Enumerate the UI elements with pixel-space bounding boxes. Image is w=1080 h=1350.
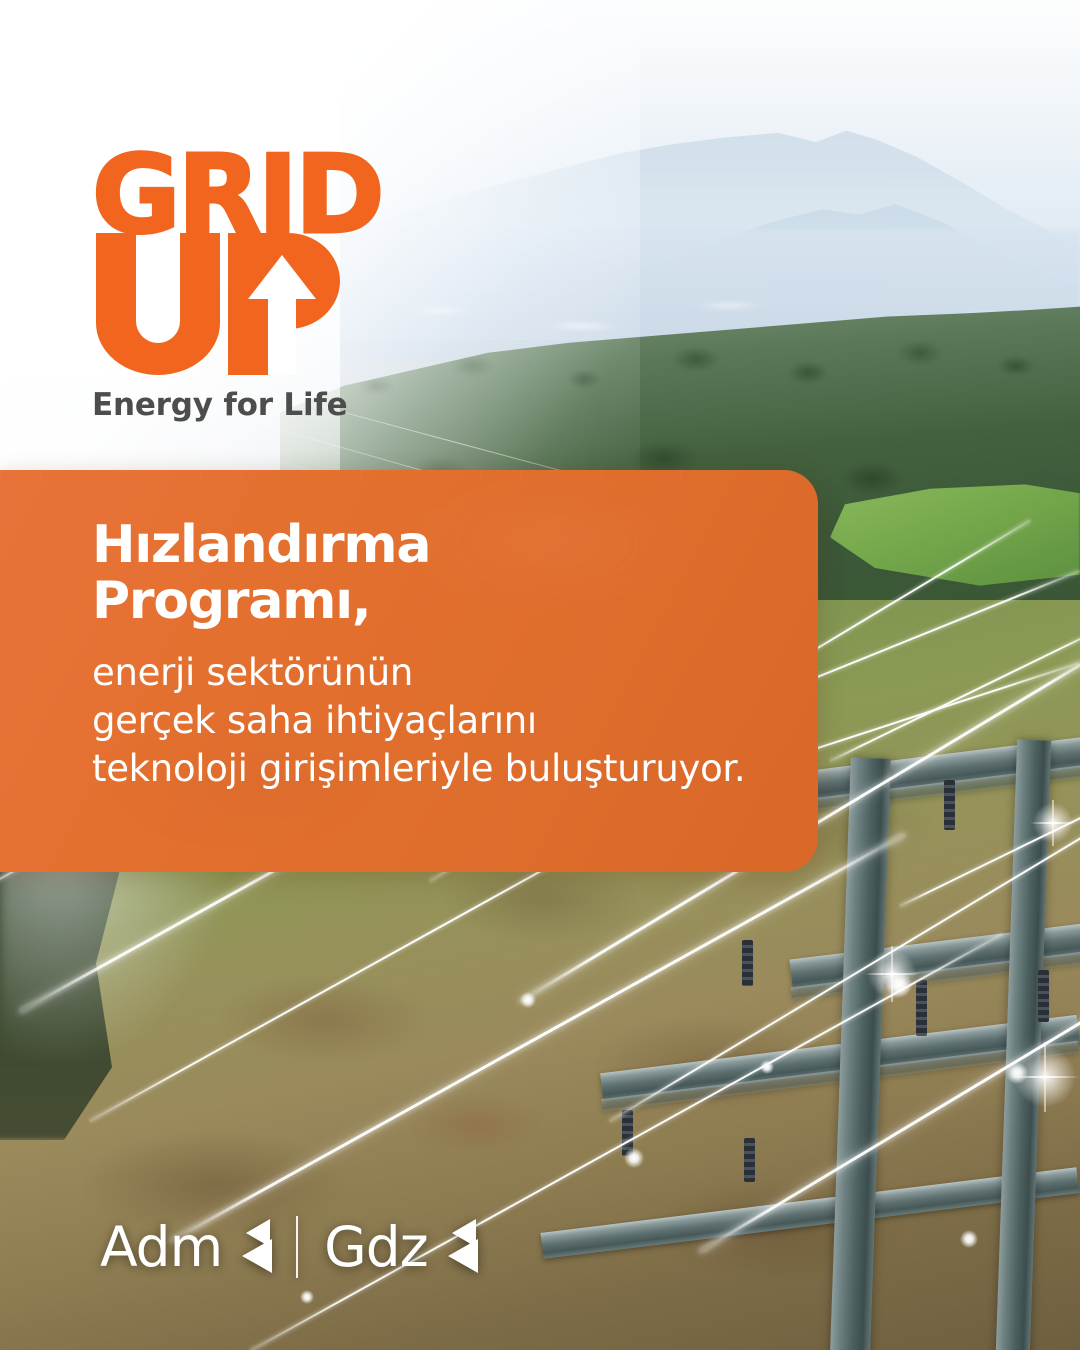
brand-gdz: Gdz <box>324 1219 475 1275</box>
grid-up-logo: GRID Energy for Life <box>92 152 422 423</box>
card-content: Hızlandırma Programı, enerji sektörünün … <box>0 470 818 794</box>
double-triangle-arrow-icon <box>430 1219 476 1275</box>
body-line-2: gerçek saha ihtiyaçlarını <box>92 697 818 745</box>
footer-brand-lockup: Adm Gdz <box>100 1216 476 1278</box>
light-star <box>1010 1042 1080 1112</box>
double-triangle-arrow-icon <box>224 1219 270 1275</box>
brand-adm: Adm <box>100 1219 270 1275</box>
card-headline: Hızlandırma Programı, <box>92 518 818 629</box>
up-arrow-icon <box>92 233 342 375</box>
logo-wordmark-grid: GRID <box>92 152 422 241</box>
brand-divider <box>296 1216 298 1278</box>
logo-wordmark-up <box>92 233 422 375</box>
power-line <box>169 833 905 1243</box>
message-card: Hızlandırma Programı, enerji sektörünün … <box>0 470 818 872</box>
light-star <box>1030 800 1076 846</box>
light-sparkle <box>300 1290 314 1304</box>
card-body-text: enerji sektörünün gerçek saha ihtiyaçlar… <box>92 649 818 793</box>
light-sparkle <box>520 992 536 1008</box>
brand-adm-label: Adm <box>100 1220 222 1275</box>
poster: GRID Energy for Life Hızlandırma Program… <box>0 0 1080 1350</box>
light-sparkle <box>960 1230 978 1248</box>
body-line-1: enerji sektörünün <box>92 649 818 697</box>
headline-line-1: Hızlandırma <box>92 518 818 574</box>
light-star <box>864 946 920 1002</box>
light-sparkle <box>624 1148 644 1168</box>
brand-tagline: Energy for Life <box>92 387 422 423</box>
light-sparkle <box>760 1060 774 1074</box>
body-line-3: teknoloji girişimleriyle buluşturuyor. <box>92 745 818 793</box>
headline-line-2: Programı, <box>92 574 818 630</box>
brand-gdz-label: Gdz <box>324 1220 427 1275</box>
